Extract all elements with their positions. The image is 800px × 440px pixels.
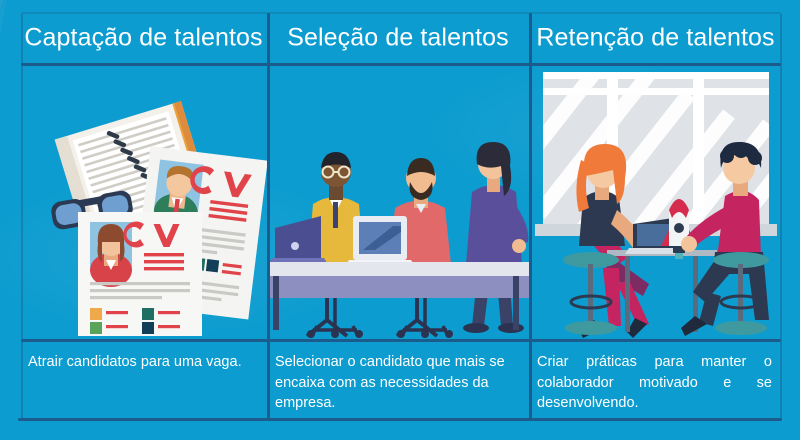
column-heading-retencao: Retenção de talentos — [529, 24, 782, 53]
column-heading-selecao: Seleção de talentos — [267, 24, 529, 53]
infographic-root: Captação de talentos Seleção de talentos… — [0, 0, 800, 440]
caption-cell-captacao: Atrair candidatos para uma vaga. — [20, 338, 267, 418]
cv-resumes-and-glasses-icon — [20, 64, 267, 338]
column-caption-selecao: Selecionar o candidato que mais se encai… — [275, 352, 519, 414]
two-people-at-table-with-rocket-icon — [529, 64, 782, 338]
header-cell-retencao: Retenção de talentos — [529, 12, 782, 64]
header-cell-captacao: Captação de talentos — [20, 12, 267, 64]
column-caption-retencao: Criar práticas para manter o colaborador… — [537, 352, 772, 414]
illustration-cell-captacao — [20, 64, 267, 338]
illustration-cell-selecao — [267, 64, 529, 338]
column-caption-captacao: Atrair candidatos para uma vaga. — [28, 352, 257, 373]
column-heading-captacao: Captação de talentos — [20, 24, 267, 53]
team-at-desk-with-laptops-icon — [267, 64, 529, 338]
caption-cell-retencao: Criar práticas para manter o colaborador… — [529, 338, 782, 418]
border-bottom — [18, 418, 782, 421]
caption-cell-selecao: Selecionar o candidato que mais se encai… — [267, 338, 529, 418]
header-cell-selecao: Seleção de talentos — [267, 12, 529, 64]
illustration-cell-retencao — [529, 64, 782, 338]
infographic-grid: Captação de talentos Seleção de talentos… — [20, 12, 782, 418]
